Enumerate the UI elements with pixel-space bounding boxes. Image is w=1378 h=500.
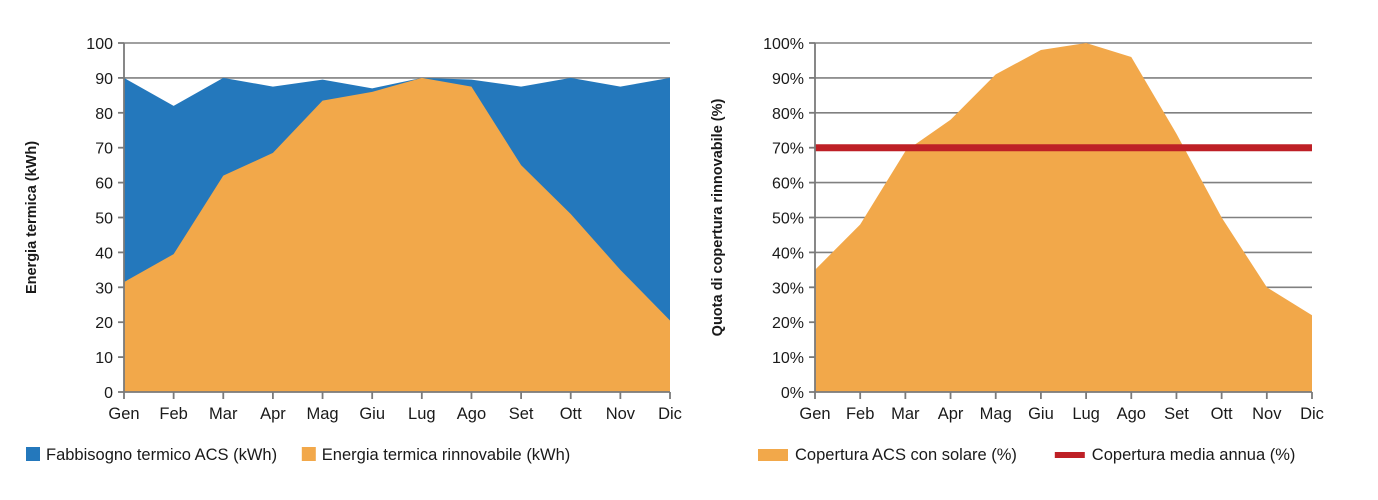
y-tick-label: 30% bbox=[772, 280, 804, 297]
y-tick-label: 60% bbox=[772, 176, 804, 193]
left-x-tick-labels: GenFebMarAprMagGiuLugAgoSetOttNovDic bbox=[108, 405, 682, 423]
x-tick-label-ago: Ago bbox=[457, 405, 486, 423]
x-tick-label-feb: Feb bbox=[159, 405, 187, 423]
y-tick-label: 0% bbox=[781, 385, 804, 402]
y-tick-label: 80% bbox=[772, 106, 804, 123]
left-legend: Fabbisogno termico ACS (kWh)Energia term… bbox=[26, 446, 570, 464]
x-tick-label-ago: Ago bbox=[1117, 405, 1146, 423]
y-tick-label: 10% bbox=[772, 350, 804, 367]
y-tick-label: 60 bbox=[95, 176, 113, 193]
y-tick-label: 90% bbox=[772, 71, 804, 88]
legend-item: Fabbisogno termico ACS (kWh) bbox=[26, 446, 277, 464]
right-y-axis-title: Quota di copertura rinnovabile (%) bbox=[710, 99, 726, 337]
right-y-tick-labels: 100%90%80%70%60%50%40%30%20%10%0% bbox=[763, 36, 804, 402]
left-gridlines bbox=[124, 43, 670, 78]
right-chart-panel: 100%90%80%70%60%50%40%30%20%10%0% GenFeb… bbox=[690, 0, 1378, 500]
y-tick-label: 100% bbox=[763, 36, 804, 53]
x-tick-label-mar: Mar bbox=[209, 405, 238, 423]
right-plot-group: 100%90%80%70%60%50%40%30%20%10%0% GenFeb… bbox=[710, 36, 1324, 464]
x-tick-label-set: Set bbox=[1164, 405, 1189, 423]
legend-label: Energia termica rinnovabile (kWh) bbox=[322, 446, 571, 464]
x-tick-label-gen: Gen bbox=[108, 405, 139, 423]
x-tick-label-ott: Ott bbox=[1211, 405, 1233, 423]
x-tick-label-giu: Giu bbox=[359, 405, 385, 423]
y-tick-label: 70% bbox=[772, 141, 804, 158]
left-chart-panel: 1009080706050403020100 GenFebMarAprMagGi… bbox=[0, 0, 690, 500]
dual-area-chart-figure: 1009080706050403020100 GenFebMarAprMagGi… bbox=[0, 0, 1378, 500]
y-tick-label: 50 bbox=[95, 211, 113, 228]
x-tick-label-giu: Giu bbox=[1028, 405, 1054, 423]
y-tick-label: 40 bbox=[95, 245, 113, 262]
x-tick-label-set: Set bbox=[509, 405, 534, 423]
legend-swatch-rect bbox=[758, 449, 788, 461]
left-y-tick-labels: 1009080706050403020100 bbox=[86, 36, 113, 402]
x-tick-label-mar: Mar bbox=[891, 405, 920, 423]
y-tick-label: 40% bbox=[772, 245, 804, 262]
x-tick-label-lug: Lug bbox=[408, 405, 436, 423]
y-tick-label: 100 bbox=[86, 36, 113, 53]
x-tick-label-nov: Nov bbox=[1252, 405, 1282, 423]
legend-item: Copertura media annua (%) bbox=[1055, 446, 1296, 464]
legend-swatch-square bbox=[26, 447, 40, 461]
legend-label: Copertura ACS con solare (%) bbox=[795, 446, 1017, 464]
y-tick-label: 80 bbox=[95, 106, 113, 123]
left-y-axis-title: Energia termica (kWh) bbox=[24, 141, 40, 294]
x-tick-label-mag: Mag bbox=[980, 405, 1012, 423]
x-tick-label-lug: Lug bbox=[1072, 405, 1100, 423]
y-tick-label: 20% bbox=[772, 315, 804, 332]
x-tick-label-feb: Feb bbox=[846, 405, 874, 423]
y-tick-label: 10 bbox=[95, 350, 113, 367]
legend-item: Copertura ACS con solare (%) bbox=[758, 446, 1017, 464]
y-tick-label: 0 bbox=[104, 385, 113, 402]
right-legend: Copertura ACS con solare (%)Copertura me… bbox=[758, 446, 1295, 464]
x-tick-label-nov: Nov bbox=[606, 405, 636, 423]
legend-label: Copertura media annua (%) bbox=[1092, 446, 1296, 464]
right-chart-svg: 100%90%80%70%60%50%40%30%20%10%0% GenFeb… bbox=[690, 0, 1378, 500]
y-tick-label: 30 bbox=[95, 280, 113, 297]
left-plot-group: 1009080706050403020100 GenFebMarAprMagGi… bbox=[24, 36, 682, 464]
y-tick-label: 50% bbox=[772, 211, 804, 228]
y-tick-label: 70 bbox=[95, 141, 113, 158]
y-tick-label: 20 bbox=[95, 315, 113, 332]
x-tick-label-dic: Dic bbox=[658, 405, 682, 423]
right-x-tick-labels: GenFebMarAprMagGiuLugAgoSetOttNovDic bbox=[799, 405, 1324, 423]
x-tick-label-apr: Apr bbox=[260, 405, 286, 423]
x-tick-label-dic: Dic bbox=[1300, 405, 1324, 423]
left-chart-svg: 1009080706050403020100 GenFebMarAprMagGi… bbox=[0, 0, 690, 500]
x-tick-label-apr: Apr bbox=[938, 405, 964, 423]
legend-swatch-square bbox=[302, 447, 316, 461]
legend-item: Energia termica rinnovabile (kWh) bbox=[302, 446, 571, 464]
legend-label: Fabbisogno termico ACS (kWh) bbox=[46, 446, 277, 464]
x-tick-label-gen: Gen bbox=[799, 405, 830, 423]
x-tick-label-ott: Ott bbox=[560, 405, 582, 423]
x-tick-label-mag: Mag bbox=[306, 405, 338, 423]
y-tick-label: 90 bbox=[95, 71, 113, 88]
left-area-series bbox=[124, 78, 670, 392]
